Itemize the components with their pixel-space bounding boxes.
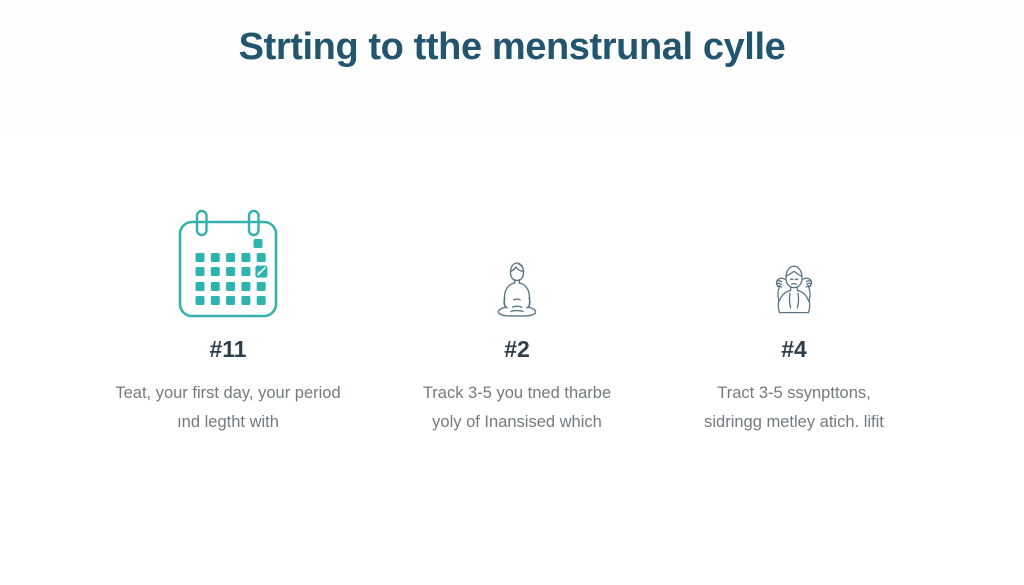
step-body-1: Teat, your first day, your period ınd le… xyxy=(113,379,343,437)
step-body-2: Track 3-5 you tned tharbe yoly of Inansi… xyxy=(422,379,612,437)
step-body-3: Tract 3-5 ssynpttons, sidringg metley at… xyxy=(687,379,902,437)
step-number-1: #11 xyxy=(209,338,246,361)
step-number-3: #4 xyxy=(781,338,807,361)
step-column-1: #11 Teat, your first day, your period ın… xyxy=(78,120,378,437)
calendar-icon-wrap xyxy=(170,120,286,320)
headache-person-icon-wrap xyxy=(766,120,822,320)
calendar-icon xyxy=(170,208,286,320)
step-column-3: #4 Tract 3-5 ssynpttons, sidringg metley… xyxy=(664,120,924,437)
meditating-person-icon-wrap xyxy=(488,120,546,320)
page-title: Strting to tthe menstrunal cylle xyxy=(0,26,1024,69)
steps-row: #11 Teat, your first day, your period ın… xyxy=(0,120,1024,520)
slide-canvas: Strting to tthe menstrunal cylle xyxy=(0,0,1024,585)
step-number-2: #2 xyxy=(504,338,530,361)
headache-person-icon xyxy=(766,260,822,320)
meditating-person-icon xyxy=(488,258,546,320)
calendar-selected-day-icon xyxy=(255,266,267,278)
step-column-2: #2 Track 3-5 you tned tharbe yoly of Ina… xyxy=(392,120,642,437)
